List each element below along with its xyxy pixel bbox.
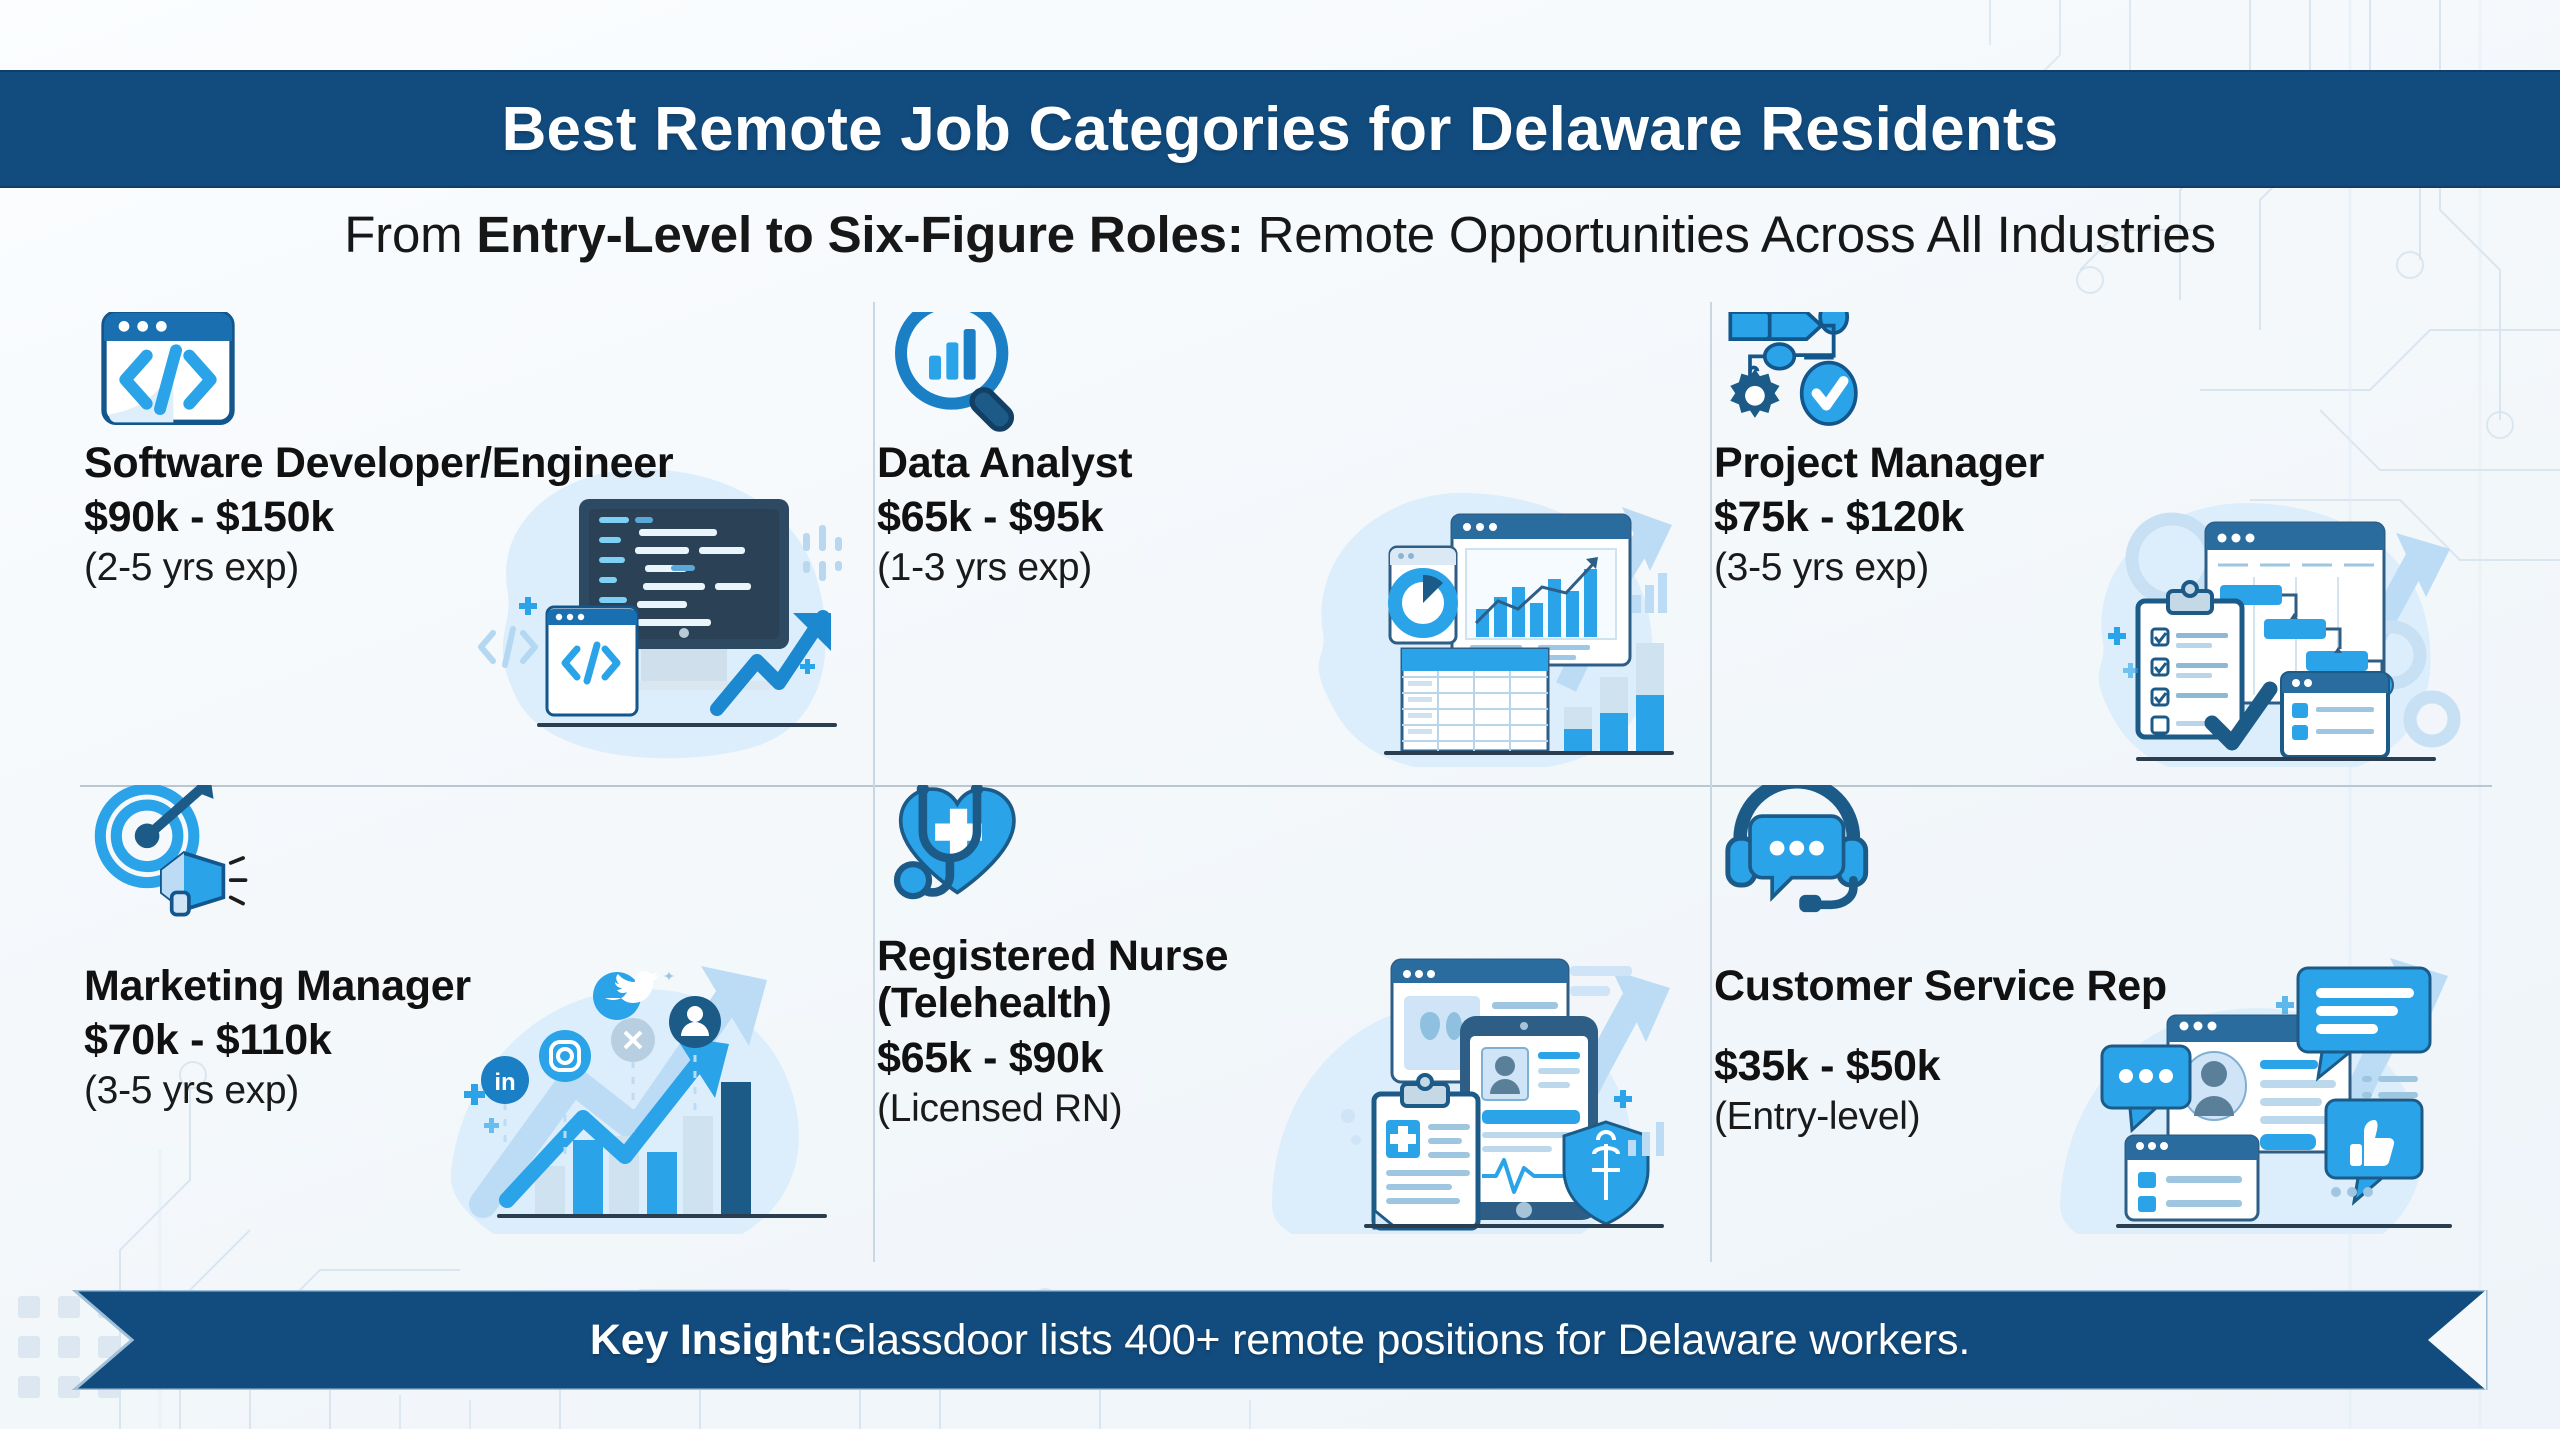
key-insight-label: Key Insight: xyxy=(590,1316,834,1365)
infographic-canvas: Best Remote Job Categories for Delaware … xyxy=(0,0,2560,1429)
subtitle-row: From Entry-Level to Six-Figure Roles: Re… xyxy=(0,205,2560,264)
experience-level: (3-5 yrs exp) xyxy=(84,1069,471,1113)
dashboard-analytics-art xyxy=(1224,437,1704,767)
job-title: Software Developer/Engineer xyxy=(84,440,673,487)
job-card-marketing-manager[interactable]: Marketing Manager $70k - $110k (3-5 yrs … xyxy=(80,785,873,1252)
page-title: Best Remote Job Categories for Delaware … xyxy=(502,94,2059,165)
card-text-block: Marketing Manager $70k - $110k (3-5 yrs … xyxy=(84,963,471,1113)
salary-range: $35k - $50k xyxy=(1714,1042,2167,1091)
experience-level: (3-5 yrs exp) xyxy=(1714,546,2044,590)
key-insight-text: Key Insight: Glassdoor lists 400+ remote… xyxy=(0,1290,2560,1390)
experience-level: (Entry-level) xyxy=(1714,1095,2167,1139)
card-text-block: Project Manager $75k - $120k (3-5 yrs ex… xyxy=(1714,440,2044,590)
job-category-grid: Software Developer/Engineer $90k - $150k… xyxy=(80,312,2492,1252)
workflow-gear-check-icon xyxy=(1718,312,1878,440)
heart-stethoscope-icon xyxy=(881,785,1041,917)
card-text-block: Data Analyst $65k - $95k (1-3 yrs exp) xyxy=(877,440,1132,590)
job-title: Marketing Manager xyxy=(84,963,471,1010)
headset-chat-icon xyxy=(1718,785,1878,917)
key-insight-ribbon: Key Insight: Glassdoor lists 400+ remote… xyxy=(0,1290,2560,1390)
subtitle-emphasis: Entry-Level to Six-Figure Roles: xyxy=(476,206,1243,263)
experience-level: (2-5 yrs exp) xyxy=(84,546,673,590)
code-window-icon xyxy=(88,312,248,440)
card-text-block: Registered Nurse (Telehealth) $65k - $90… xyxy=(877,933,1228,1131)
job-card-project-manager[interactable]: Project Manager $75k - $120k (3-5 yrs ex… xyxy=(1710,312,2492,785)
job-title: Data Analyst xyxy=(877,440,1132,487)
key-insight-body: Glassdoor lists 400+ remote positions fo… xyxy=(834,1316,1971,1365)
job-title: Project Manager xyxy=(1714,440,2044,487)
telehealth-devices-art xyxy=(1224,904,1704,1234)
magnifier-bar-chart-icon xyxy=(881,312,1041,440)
subtitle: From Entry-Level to Six-Figure Roles: Re… xyxy=(344,205,2216,264)
gantt-clipboard-art xyxy=(2006,437,2486,767)
salary-range: $65k - $90k xyxy=(877,1034,1228,1083)
salary-range: $65k - $95k xyxy=(877,493,1132,542)
job-card-registered-nurse[interactable]: Registered Nurse (Telehealth) $65k - $90… xyxy=(873,785,1710,1252)
job-title: Customer Service Rep xyxy=(1714,963,2167,1010)
svg-text:in: in xyxy=(494,1069,515,1096)
salary-range: $90k - $150k xyxy=(84,493,673,542)
job-card-data-analyst[interactable]: Data Analyst $65k - $95k (1-3 yrs exp) xyxy=(873,312,1710,785)
header-bar: Best Remote Job Categories for Delaware … xyxy=(0,70,2560,188)
card-text-block: Software Developer/Engineer $90k - $150k… xyxy=(84,440,673,590)
target-megaphone-icon xyxy=(88,785,248,917)
job-title: Registered Nurse (Telehealth) xyxy=(877,933,1228,1028)
card-text-block: Customer Service Rep $35k - $50k (Entry-… xyxy=(1714,963,2167,1139)
experience-level: (1-3 yrs exp) xyxy=(877,546,1132,590)
experience-level: (Licensed RN) xyxy=(877,1087,1228,1131)
job-card-software-developer[interactable]: Software Developer/Engineer $90k - $150k… xyxy=(80,312,873,785)
salary-range: $70k - $110k xyxy=(84,1016,471,1065)
job-card-customer-service-rep[interactable]: Customer Service Rep $35k - $50k (Entry-… xyxy=(1710,785,2492,1252)
subtitle-lead: From xyxy=(344,206,476,263)
subtitle-tail: Remote Opportunities Across All Industri… xyxy=(1244,206,2216,263)
salary-range: $75k - $120k xyxy=(1714,493,2044,542)
